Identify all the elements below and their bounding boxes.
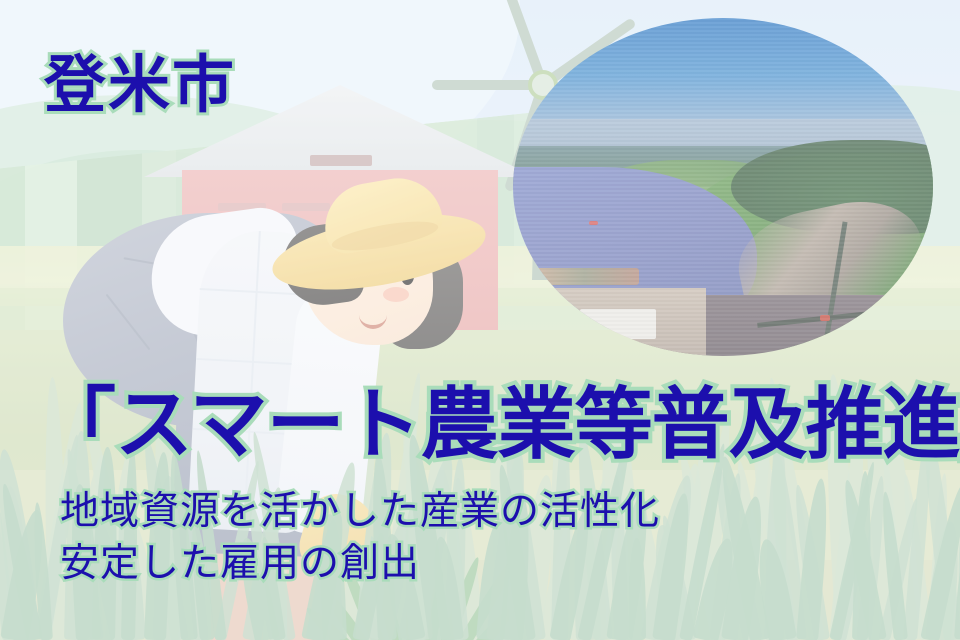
aerial-photo-circle: [513, 18, 933, 356]
farmer-cheek: [383, 287, 409, 302]
subtitle-block: 地域資源を活かした産業の活性化 安定した雇用の創出: [60, 486, 660, 591]
farmer-head: [285, 193, 450, 353]
aerial-photo-image: [513, 18, 933, 356]
subtitle-line-2: 安定した雇用の創出: [60, 538, 660, 590]
photo-red-marker: [820, 315, 830, 321]
straw-hat-icon: [271, 181, 487, 289]
rice-blade: [920, 482, 960, 640]
photo-building: [580, 309, 656, 339]
photo-boat-marker: [589, 221, 598, 225]
rice-blade: [796, 478, 832, 640]
page-title: 「スマート農業等普及推進」: [38, 362, 960, 474]
farmer-back-stitch: [106, 294, 151, 350]
photo-boats: [530, 268, 639, 285]
city-title: 登米市: [44, 34, 236, 124]
poster-canvas: 登米市 「スマート農業等普及推進」 地域資源を活かした産業の活性化 安定した雇用…: [0, 0, 960, 640]
subtitle-line-1: 地域資源を活かした産業の活性化: [60, 486, 660, 538]
